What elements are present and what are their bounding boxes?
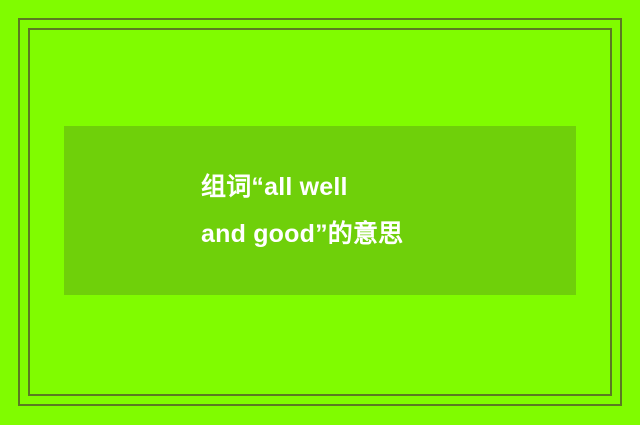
banner-canvas: 组词“all well and good”的意思	[0, 0, 640, 425]
headline-text: 组词“all well and good”的意思	[201, 164, 403, 258]
content-plate: 组词“all well and good”的意思	[64, 126, 576, 295]
